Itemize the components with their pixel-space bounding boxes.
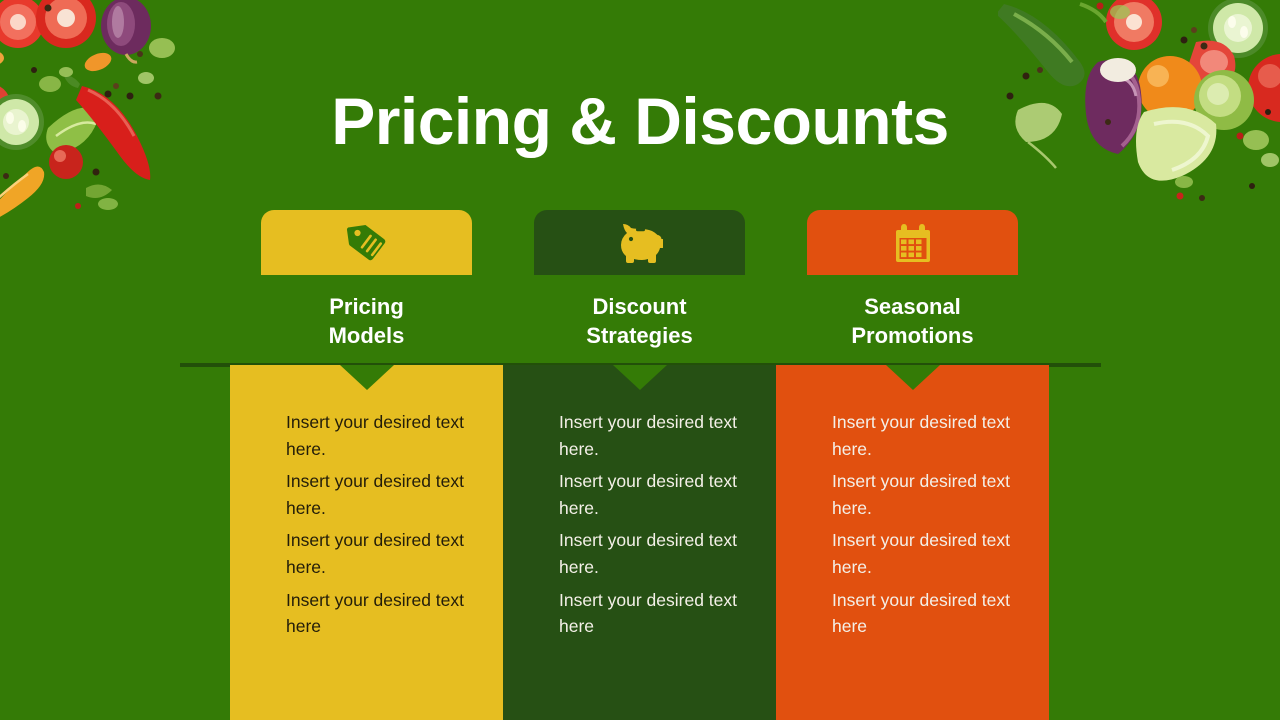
body-line: Insert your desired text here.	[559, 409, 759, 462]
slide-canvas: Pricing & Discounts Pricing Models Inser…	[0, 0, 1280, 720]
panel-body-discount-strategies: Insert your desired text here. Insert yo…	[559, 409, 759, 646]
body-line: Insert your desired text here	[832, 587, 1032, 640]
body-line: Insert your desired text here.	[286, 409, 486, 462]
panel-body-seasonal-promotions: Insert your desired text here. Insert yo…	[832, 409, 1032, 646]
column-pricing-models: Pricing Models Insert your desired text …	[230, 0, 503, 720]
body-line: Insert your desired text here.	[832, 409, 1032, 462]
heading-line-2: Strategies	[503, 321, 776, 350]
panel-seasonal-promotions: Insert your desired text here. Insert yo…	[776, 365, 1049, 720]
heading-line-2: Promotions	[776, 321, 1049, 350]
body-line: Insert your desired text here.	[559, 468, 759, 521]
column-seasonal-promotions: Seasonal Promotions Insert your desired …	[776, 0, 1049, 720]
heading-line-1: Pricing	[230, 292, 503, 321]
body-line: Insert your desired text here.	[832, 527, 1032, 580]
piggy-bank-icon	[617, 222, 663, 264]
column-heading-seasonal-promotions: Seasonal Promotions	[776, 292, 1049, 350]
body-line: Insert your desired text here.	[286, 527, 486, 580]
panel-body-pricing-models: Insert your desired text here. Insert yo…	[286, 409, 486, 646]
calendar-icon	[892, 222, 934, 264]
panel-discount-strategies: Insert your desired text here. Insert yo…	[503, 365, 776, 720]
heading-line-1: Discount	[503, 292, 776, 321]
price-tag-icon	[345, 221, 389, 265]
body-line: Insert your desired text here	[559, 587, 759, 640]
column-heading-pricing-models: Pricing Models	[230, 292, 503, 350]
icon-card-pricing-models[interactable]	[261, 210, 472, 275]
panel-notch	[613, 365, 667, 390]
panel-notch	[340, 365, 394, 390]
body-line: Insert your desired text here.	[286, 468, 486, 521]
heading-line-2: Models	[230, 321, 503, 350]
icon-card-discount-strategies[interactable]	[534, 210, 745, 275]
icon-card-seasonal-promotions[interactable]	[807, 210, 1018, 275]
heading-line-1: Seasonal	[776, 292, 1049, 321]
column-heading-discount-strategies: Discount Strategies	[503, 292, 776, 350]
body-line: Insert your desired text here.	[832, 468, 1032, 521]
body-line: Insert your desired text here.	[559, 527, 759, 580]
column-discount-strategies: Discount Strategies Insert your desired …	[503, 0, 776, 720]
panel-pricing-models: Insert your desired text here. Insert yo…	[230, 365, 503, 720]
panel-notch	[886, 365, 940, 390]
body-line: Insert your desired text here	[286, 587, 486, 640]
